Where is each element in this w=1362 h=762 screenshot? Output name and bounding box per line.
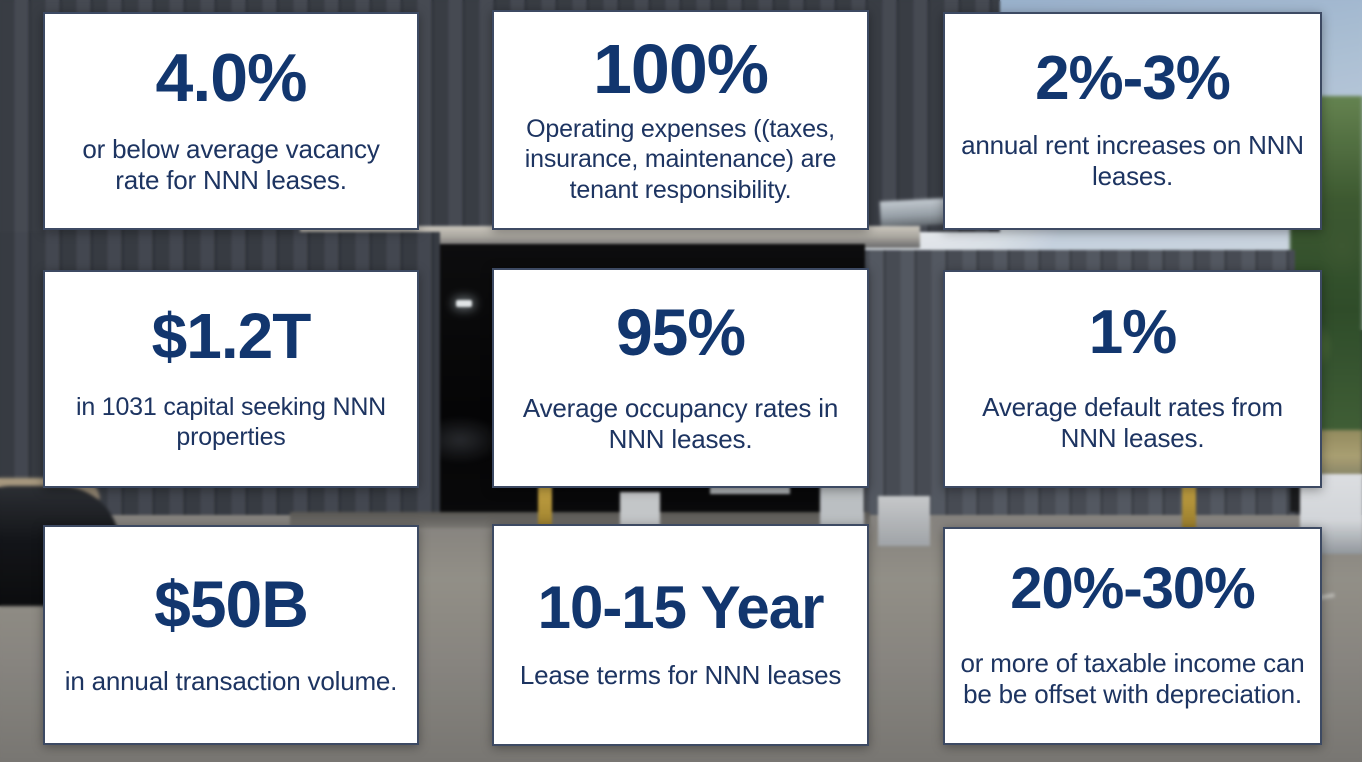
stat-card-default-rate: 1% Average default rates from NNN leases… xyxy=(943,270,1322,488)
stat-value: 2%-3% xyxy=(1035,49,1230,110)
stat-value: 20%-30% xyxy=(1010,561,1254,618)
infographic-stage: 4.0% or below average vacancy rate for N… xyxy=(0,0,1362,762)
stat-value: 10-15 Year xyxy=(538,579,824,638)
stat-card-transaction-volume: $50B in annual transaction volume. xyxy=(43,525,419,745)
stat-description: in annual transaction volume. xyxy=(65,666,397,698)
stat-value: $50B xyxy=(154,572,308,637)
stat-value: $1.2T xyxy=(152,305,311,368)
stat-card-operating-expenses: 100% Operating expenses ((taxes, insuran… xyxy=(492,10,869,230)
stat-card-annual-rent-increases: 2%-3% annual rent increases on NNN lease… xyxy=(943,12,1322,230)
stat-description: in 1031 capital seeking NNN properties xyxy=(59,392,403,453)
stat-description: Average occupancy rates in NNN leases. xyxy=(508,393,853,456)
stat-description: or more of taxable income can be be offs… xyxy=(959,648,1306,711)
stat-card-grid: 4.0% or below average vacancy rate for N… xyxy=(0,0,1362,762)
stat-value: 95% xyxy=(616,300,745,365)
stat-description: Average default rates from NNN leases. xyxy=(959,392,1306,455)
stat-value: 1% xyxy=(1089,303,1177,364)
stat-description: or below average vacancy rate for NNN le… xyxy=(59,134,403,197)
stat-description: annual rent increases on NNN leases. xyxy=(959,130,1306,193)
stat-card-vacancy-rate: 4.0% or below average vacancy rate for N… xyxy=(43,12,419,230)
stat-card-1031-capital: $1.2T in 1031 capital seeking NNN proper… xyxy=(43,270,419,488)
stat-value: 4.0% xyxy=(156,45,307,112)
stat-card-depreciation-offset: 20%-30% or more of taxable income can be… xyxy=(943,527,1322,745)
stat-value: 100% xyxy=(593,35,768,104)
stat-description: Lease terms for NNN leases xyxy=(520,660,841,692)
stat-card-lease-term: 10-15 Year Lease terms for NNN leases xyxy=(492,524,869,746)
stat-card-occupancy-rate: 95% Average occupancy rates in NNN lease… xyxy=(492,268,869,488)
stat-description: Operating expenses ((taxes, insurance, m… xyxy=(508,114,853,206)
